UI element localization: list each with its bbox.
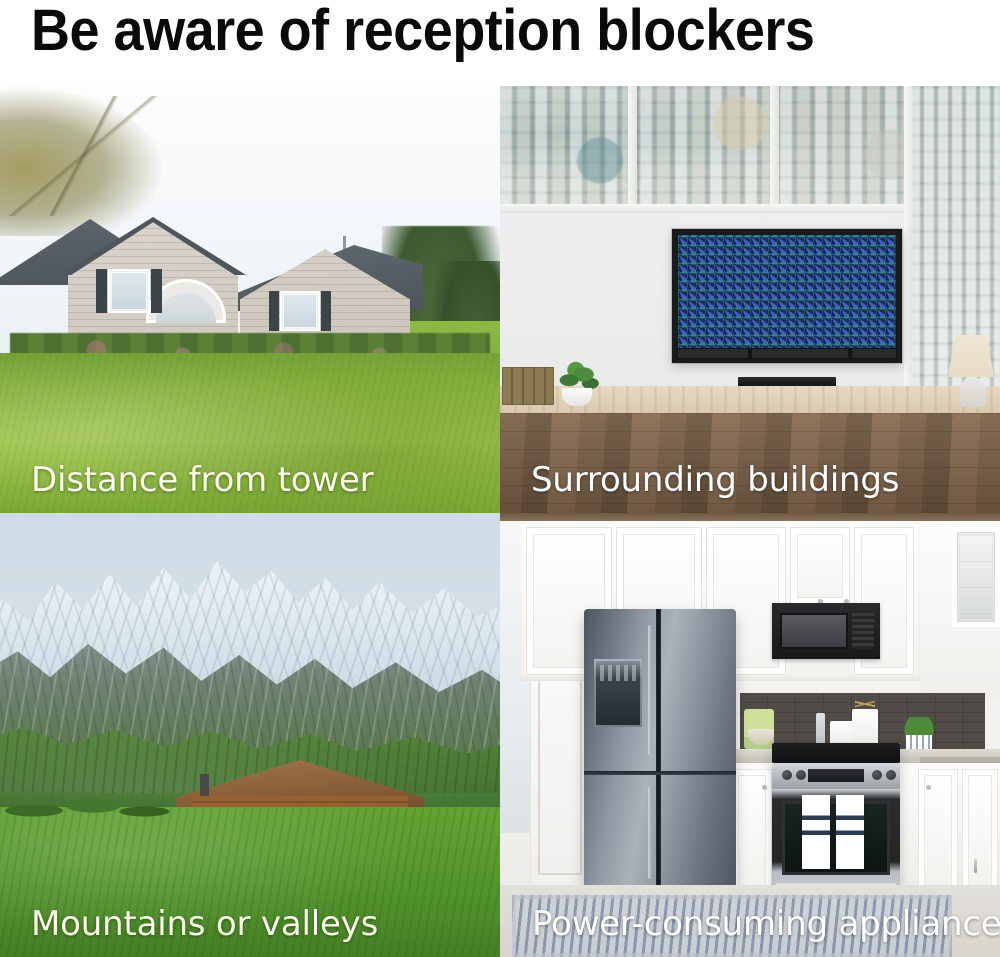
cabinet-knob-icon[interactable] (762, 785, 767, 790)
fridge-freezer-seam (584, 771, 736, 775)
grid-cell-distance-from-tower: Distance from tower (0, 86, 500, 513)
shutter-right-a (151, 269, 162, 313)
range-knob-icon[interactable] (886, 770, 896, 780)
shutter-left-a (96, 269, 107, 313)
window-mullion (770, 86, 779, 210)
grid-cell-power-consuming-appliances: Power-consuming appliances (500, 513, 1000, 957)
fridge-handle-upper[interactable] (648, 625, 652, 755)
window-sill (500, 204, 910, 213)
title-bar: Be aware of reception blockers (0, 0, 1000, 86)
plant-pot (562, 388, 592, 406)
glass-front-cabinet[interactable] (952, 527, 1000, 627)
cabinet-door-above-microwave[interactable] (790, 527, 850, 605)
grid-cell-mountains-or-valleys: Mountains or valleys (0, 513, 500, 957)
books-icon (502, 367, 554, 405)
water-ice-dispenser-icon[interactable] (594, 659, 642, 727)
reception-blockers-infographic: Be aware of reception blockers (0, 0, 1000, 957)
shutter-left-b (269, 291, 279, 331)
refrigerator-icon[interactable] (584, 609, 736, 891)
caption-distance-from-tower: Distance from tower (31, 461, 373, 499)
fridge-handle-lower[interactable] (648, 787, 652, 879)
range-knob-icon[interactable] (796, 770, 806, 780)
range-knob-icon[interactable] (872, 770, 882, 780)
electric-range-icon[interactable] (772, 743, 900, 908)
lamp-base (960, 377, 986, 407)
kitchen-appliances-photo (500, 513, 1000, 957)
side-window-frame (904, 86, 912, 422)
caption-mountains-or-valleys: Mountains or valleys (31, 905, 378, 943)
range-knob-icon[interactable] (782, 770, 792, 780)
foreground-bushes (0, 783, 170, 829)
grid-cell-surrounding-buildings: Surrounding buildings (500, 86, 1000, 513)
microwave-icon[interactable] (772, 603, 880, 659)
tv-static-noise (678, 235, 896, 349)
shutter-right-b (321, 291, 331, 331)
cooktop-surface[interactable] (772, 743, 900, 763)
lower-cabinet-door[interactable] (962, 769, 998, 895)
tv-speaker-strip (678, 349, 896, 358)
soap-dispenser-icon (816, 713, 825, 747)
alpine-lake-chalet-photo (0, 513, 500, 957)
dish-towel-icon (836, 795, 864, 869)
house-with-tower-photo (0, 86, 500, 513)
cabinet-knob-icon[interactable] (926, 785, 931, 790)
caption-surrounding-buildings: Surrounding buildings (531, 461, 899, 499)
window-mullion (628, 86, 637, 210)
photo-grid: Distance from tower (0, 86, 1000, 957)
fridge-door-seam (656, 609, 661, 891)
table-lamp-icon (948, 335, 994, 377)
living-room-tv-photo (500, 86, 1000, 513)
microwave-control-panel[interactable] (852, 613, 874, 649)
television-icon (672, 229, 902, 363)
window-left-upper (108, 269, 150, 313)
window-right-upper (280, 291, 320, 331)
ceiling-trim (500, 513, 1000, 521)
caption-power-consuming-appliances: Power-consuming appliances (532, 905, 1000, 943)
page-title: Be aware of reception blockers (31, 0, 814, 62)
lower-cabinet-door[interactable] (918, 769, 958, 895)
dish-towel-icon (802, 795, 830, 869)
drawer-handle-icon[interactable] (974, 859, 977, 873)
